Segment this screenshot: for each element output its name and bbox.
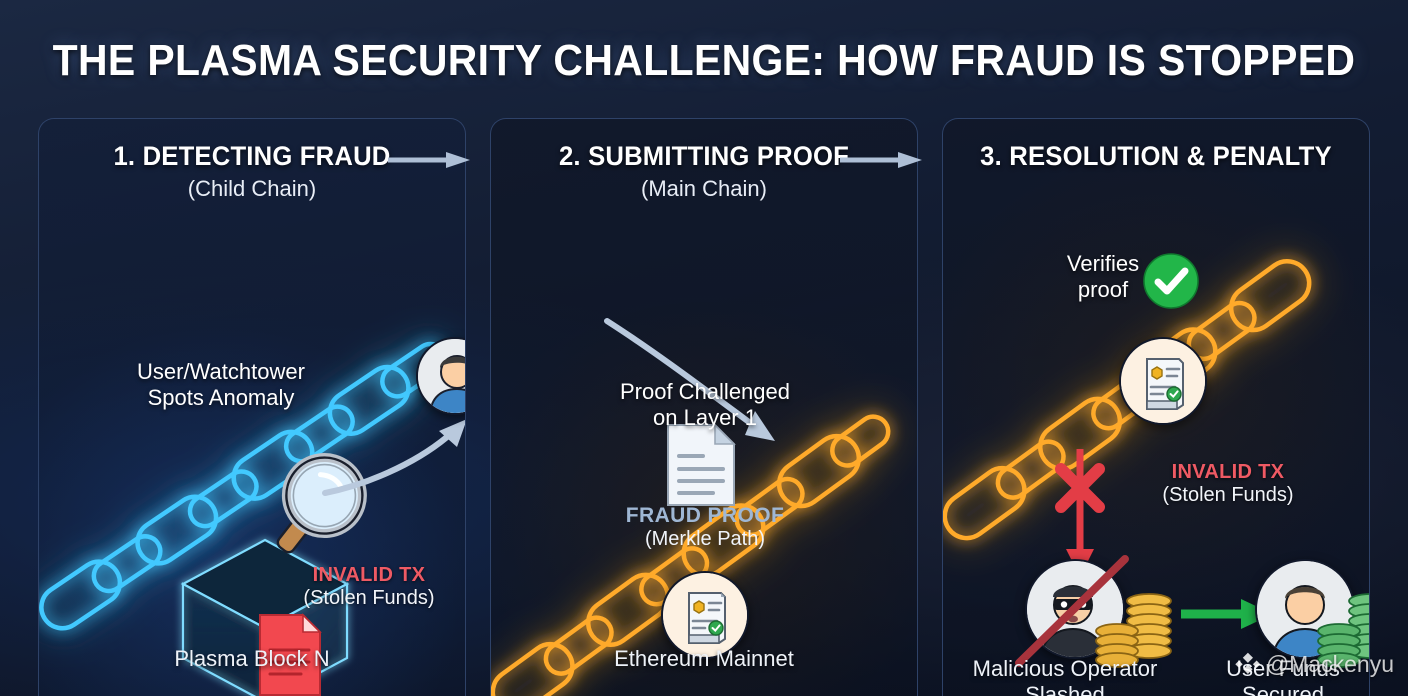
panel-detecting-fraud: 1. DETECTING FRAUD (Child Chain) bbox=[38, 118, 466, 696]
panel1-header: 1. DETECTING FRAUD (Child Chain) bbox=[39, 141, 465, 202]
panel-submitting-proof: 2. SUBMITTING PROOF (Main Chain) bbox=[490, 118, 918, 696]
panel2-fraud-proof-label: FRAUD PROOF (Merkle Path) bbox=[575, 504, 835, 551]
arrow-step1-to-step2 bbox=[388, 152, 470, 168]
panel1-invalid-tx-sub: (Stolen Funds) bbox=[274, 587, 464, 610]
panel2-fraud-proof-sub: (Merkle Path) bbox=[575, 528, 835, 551]
arrow-step2-to-step3 bbox=[840, 152, 922, 168]
panel-resolution-penalty: 3. RESOLUTION & PENALTY bbox=[942, 118, 1370, 696]
panel2-callout: Proof Challenged on Layer 1 bbox=[575, 379, 835, 431]
panel1-bottom-label: Plasma Block N bbox=[39, 646, 465, 672]
infographic-canvas: THE PLASMA SECURITY CHALLENGE: HOW FRAUD… bbox=[0, 0, 1408, 696]
panel3-operator-label-group: Malicious Operator Slashed bbox=[955, 656, 1175, 696]
panel2-callout-line1: Proof Challenged bbox=[575, 379, 835, 405]
panel3-user-funds-label-group: User Funds Secured bbox=[1193, 656, 1370, 696]
panel3-user-funds-label: User Funds bbox=[1193, 656, 1370, 682]
panel2-bottom-label: Ethereum Mainnet bbox=[491, 646, 917, 672]
panel2-fraud-proof-title: FRAUD PROOF bbox=[575, 504, 835, 528]
panel1-subtitle: (Child Chain) bbox=[39, 176, 465, 202]
panel2-callout-line2: on Layer 1 bbox=[575, 405, 835, 431]
panel1-callout: User/Watchtower Spots Anomaly bbox=[71, 359, 371, 411]
document-icon bbox=[665, 422, 737, 508]
panel1-invalid-tx-label: INVALID TX (Stolen Funds) bbox=[274, 564, 464, 610]
panel3-invalid-tx-label: INVALID TX (Stolen Funds) bbox=[1123, 461, 1333, 507]
panel1-invalid-tx-title: INVALID TX bbox=[274, 564, 464, 587]
panel3-header: 3. RESOLUTION & PENALTY bbox=[943, 141, 1369, 176]
panel3-operator-sub: Slashed bbox=[955, 682, 1175, 696]
panel3-invalid-tx-sub: (Stolen Funds) bbox=[1123, 484, 1333, 507]
panel1-callout-line2: Spots Anomaly bbox=[71, 385, 371, 411]
panel3-operator-label: Malicious Operator bbox=[955, 656, 1175, 682]
panel3-user-funds-sub: Secured bbox=[1193, 682, 1370, 696]
panel3-invalid-tx-title: INVALID TX bbox=[1123, 461, 1333, 484]
green-check-icon bbox=[1143, 253, 1199, 309]
page-title: THE PLASMA SECURITY CHALLENGE: HOW FRAUD… bbox=[49, 36, 1358, 86]
panel2-subtitle: (Main Chain) bbox=[491, 176, 917, 202]
panel1-callout-line1: User/Watchtower bbox=[71, 359, 371, 385]
panel2-header: 2. SUBMITTING PROOF (Main Chain) bbox=[491, 141, 917, 202]
certificate-medallion-icon bbox=[1119, 337, 1207, 425]
panel3-heading: 3. RESOLUTION & PENALTY bbox=[954, 141, 1359, 172]
curved-arrow-icon bbox=[321, 411, 466, 501]
